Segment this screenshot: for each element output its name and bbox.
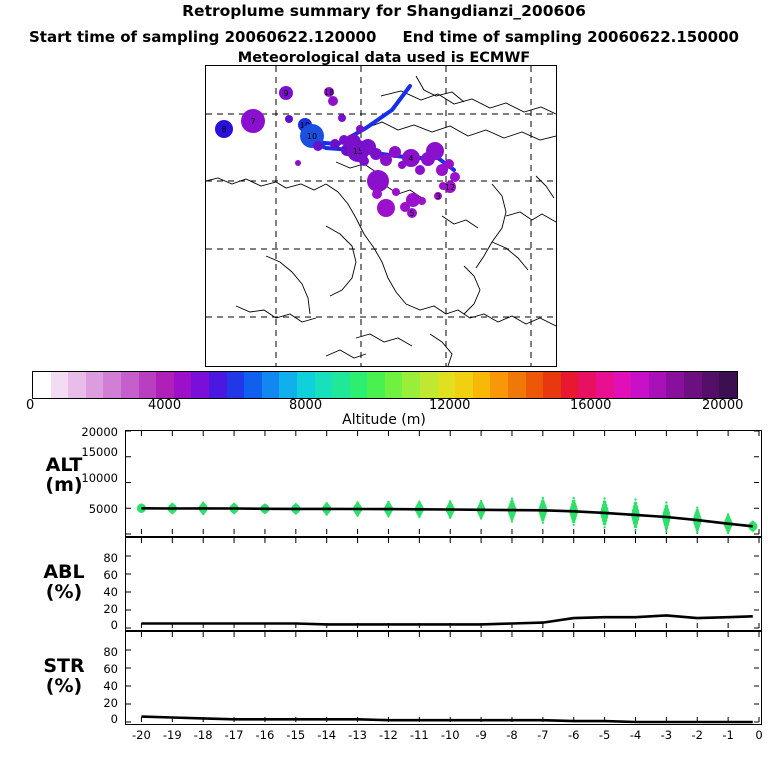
alt-scatter-point <box>542 521 544 523</box>
particle-marker <box>370 148 382 160</box>
alt-scatter-point <box>140 503 142 505</box>
abl-ytick-0: 0 <box>74 618 118 632</box>
colorbar-segment-2 <box>68 372 86 398</box>
colorbar-tick-0: 0 <box>26 398 34 413</box>
colorbar-tick-3: 12000 <box>429 398 470 413</box>
colorbar-tick-2: 8000 <box>289 398 322 413</box>
particle-label: 3 <box>435 192 440 201</box>
particle-label: 7 <box>250 117 255 126</box>
particle-label: 4 <box>408 154 413 163</box>
alt-scatter-point <box>634 498 636 500</box>
alt-scatter-point <box>573 497 575 499</box>
alt-scatter-point <box>696 531 698 533</box>
colorbar-segment-22 <box>420 372 438 398</box>
alt-scatter-point <box>480 500 482 502</box>
colorbar-segment-39 <box>719 372 737 398</box>
particle-marker <box>380 154 392 166</box>
colorbar-segment-28 <box>526 372 544 398</box>
x-tick-label-4: -16 <box>252 728 278 742</box>
colorbar-segment-6 <box>139 372 157 398</box>
abl-ytick-40: 40 <box>74 585 118 599</box>
particle-marker <box>295 160 301 166</box>
alt-scatter-point <box>603 526 605 528</box>
str-ytick-60: 60 <box>74 662 118 676</box>
particle-marker <box>444 159 454 169</box>
colorbar-segment-15 <box>297 372 315 398</box>
page-title: Retroplume summary for Shangdianzi_20060… <box>0 2 768 20</box>
str-ytick-40: 40 <box>74 679 118 693</box>
alt-scatter-point <box>202 501 204 503</box>
particle-label: 18 <box>324 88 334 97</box>
particle-marker <box>450 172 460 182</box>
alt-scatter-point <box>634 502 638 506</box>
alt-scatter-point <box>264 503 266 505</box>
alt-panel <box>125 430 762 537</box>
x-tick-label-19: -1 <box>715 728 741 742</box>
colorbar-segment-18 <box>350 372 368 398</box>
alt-scatter-point <box>573 524 575 526</box>
alt-scatter-point <box>633 505 638 510</box>
colorbar-tick-5: 20000 <box>702 398 743 413</box>
x-tick-label-13: -7 <box>530 728 556 742</box>
colorbar-segment-25 <box>473 372 491 398</box>
colorbar-segment-24 <box>455 372 473 398</box>
colorbar-segment-27 <box>508 372 526 398</box>
colorbar-segment-11 <box>227 372 245 398</box>
colorbar-segment-10 <box>209 372 227 398</box>
particle-label: 9 <box>283 89 288 98</box>
colorbar-segment-9 <box>191 372 209 398</box>
x-tick-label-11: -9 <box>468 728 494 742</box>
alt-scatter-point <box>542 497 544 499</box>
x-tick-label-16: -4 <box>622 728 648 742</box>
abl-ytick-80: 80 <box>74 551 118 565</box>
alt-ytick-20000: 20000 <box>74 425 118 439</box>
alt-scatter-point <box>326 502 328 504</box>
alt-scatter-point <box>665 501 667 503</box>
particle-marker <box>426 142 444 160</box>
alt-scatter-point <box>449 500 451 502</box>
alt-scatter-point <box>603 497 605 499</box>
met-data-text: Meteorological data used is ECMWF <box>0 50 768 66</box>
abl-ytick-60: 60 <box>74 568 118 582</box>
colorbar-segment-14 <box>279 372 297 398</box>
colorbar-segment-34 <box>631 372 649 398</box>
str-panel <box>125 631 762 725</box>
colorbar-segment-1 <box>51 372 69 398</box>
str-ytick-20: 20 <box>74 696 118 710</box>
colorbar-segment-5 <box>121 372 139 398</box>
x-tick-label-1: -19 <box>159 728 185 742</box>
particle-marker <box>356 125 364 133</box>
colorbar-segment-13 <box>262 372 280 398</box>
str-ytick-80: 80 <box>74 645 118 659</box>
str-ytick-0: 0 <box>74 712 118 726</box>
particle-marker <box>338 114 346 122</box>
x-tick-label-10: -10 <box>437 728 463 742</box>
x-tick-label-0: -20 <box>128 728 154 742</box>
colorbar-segment-29 <box>543 372 561 398</box>
colorbar-segment-30 <box>561 372 579 398</box>
alt-ytick-10000: 10000 <box>74 471 118 485</box>
alt-scatter-point <box>665 530 667 532</box>
alt-ytick-5000: 5000 <box>74 502 118 516</box>
particle-marker <box>313 141 323 151</box>
abl-ytick-20: 20 <box>74 602 118 616</box>
x-tick-label-7: -13 <box>345 728 371 742</box>
colorbar-segment-26 <box>490 372 508 398</box>
x-tick-label-8: -12 <box>375 728 401 742</box>
alt-scatter-point <box>572 500 576 504</box>
particle-marker <box>359 156 369 166</box>
particle-marker <box>328 96 338 106</box>
alt-scatter-points <box>137 497 758 534</box>
alt-scatter-point <box>603 500 607 504</box>
alt-scatter-point <box>696 507 698 509</box>
particle-label: 8 <box>221 125 226 134</box>
alt-scatter-point <box>541 499 545 503</box>
colorbar-segment-16 <box>315 372 333 398</box>
abl-line <box>141 615 752 624</box>
colorbar-segment-4 <box>103 372 121 398</box>
colorbar-segment-32 <box>596 372 614 398</box>
alt-scatter-point <box>634 529 636 531</box>
x-tick-label-6: -14 <box>314 728 340 742</box>
alt-scatter-point <box>356 501 358 503</box>
colorbar-tick-1: 4000 <box>148 398 181 413</box>
altitude-colorbar <box>32 371 738 399</box>
particle-marker <box>285 115 293 123</box>
alt-scatter-point <box>665 504 669 508</box>
map-svg: 8791010181541235 <box>206 66 556 366</box>
colorbar-segment-12 <box>244 372 262 398</box>
colorbar-segment-0 <box>33 372 51 398</box>
x-tick-label-5: -15 <box>283 728 309 742</box>
abl-panel <box>125 537 762 631</box>
alt-scatter-point <box>511 498 513 500</box>
colorbar-segment-23 <box>438 372 456 398</box>
x-tick-label-2: -18 <box>190 728 216 742</box>
colorbar-segment-33 <box>614 372 632 398</box>
particle-marker <box>372 189 382 199</box>
colorbar-segment-20 <box>385 372 403 398</box>
alt-scatter-point <box>418 500 420 502</box>
alt-scatter-point <box>233 503 235 505</box>
particle-label: 5 <box>409 209 414 218</box>
x-tick-label-17: -3 <box>653 728 679 742</box>
alt-scatter-point <box>171 503 173 505</box>
colorbar-segment-19 <box>367 372 385 398</box>
alt-scatter-point <box>511 520 513 522</box>
colorbar-segment-17 <box>332 372 350 398</box>
x-tick-label-12: -8 <box>499 728 525 742</box>
alt-scatter-point <box>695 509 699 513</box>
x-axis-tick-labels: -20-19-18-17-16-15-14-13-12-11-10-9-8-7-… <box>0 728 768 744</box>
particle-marker <box>392 188 400 196</box>
alt-ytick-15000: 15000 <box>74 445 118 459</box>
particle-marker <box>330 139 340 149</box>
abl-plot <box>126 538 759 628</box>
particle-label: 12 <box>445 183 455 192</box>
str-line <box>141 717 752 722</box>
particle-marker <box>389 146 401 158</box>
particle-marker <box>415 165 425 175</box>
x-tick-label-15: -5 <box>592 728 618 742</box>
colorbar-segment-31 <box>578 372 596 398</box>
alt-plot <box>126 431 759 534</box>
str-tick-marks <box>126 632 759 722</box>
retroplume-map: 8791010181541235 <box>205 65 557 367</box>
x-tick-label-20: 0 <box>746 728 768 742</box>
colorbar-segment-37 <box>684 372 702 398</box>
x-tick-label-14: -6 <box>561 728 587 742</box>
colorbar-segment-8 <box>174 372 192 398</box>
alt-scatter-point <box>387 501 389 503</box>
alt-scatter-point <box>752 520 754 522</box>
particle-marker <box>377 199 395 217</box>
x-tick-label-3: -17 <box>221 728 247 742</box>
alt-scatter-point <box>295 503 297 505</box>
particle-marker <box>367 170 389 192</box>
colorbar-segment-21 <box>402 372 420 398</box>
particle-group: 8791010181541235 <box>215 86 460 218</box>
colorbar-segment-35 <box>649 372 667 398</box>
colorbar-tick-4: 16000 <box>570 398 611 413</box>
alt-scatter-point <box>727 513 729 515</box>
colorbar-segment-3 <box>86 372 104 398</box>
colorbar-segment-7 <box>156 372 174 398</box>
sampling-period-text: Start time of sampling 20060622.120000 E… <box>0 28 768 46</box>
alt-scatter-point <box>510 500 514 504</box>
particle-label: 10 <box>307 132 317 141</box>
x-tick-label-9: -11 <box>406 728 432 742</box>
colorbar-segment-38 <box>702 372 720 398</box>
colorbar-segment-36 <box>666 372 684 398</box>
x-tick-label-18: -2 <box>684 728 710 742</box>
str-plot <box>126 632 759 722</box>
